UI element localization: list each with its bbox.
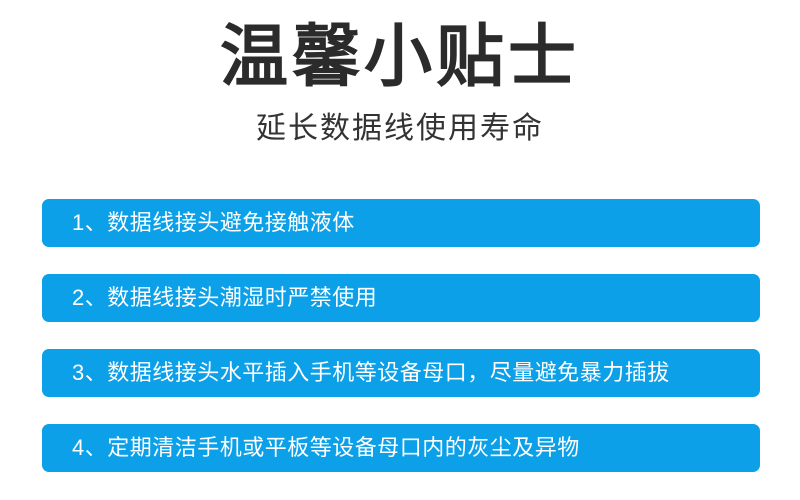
poster-header: 温馨小贴士 延长数据线使用寿命 <box>0 0 800 148</box>
tip-text: 4、定期清洁手机或平板等设备母口内的灰尘及异物 <box>42 436 594 460</box>
list-item: 3、数据线接头水平插入手机等设备母口，尽量避免暴力插拔 <box>42 349 760 397</box>
list-item: 1、数据线接头避免接触液体 <box>42 199 760 247</box>
tip-text: 1、数据线接头避免接触液体 <box>42 211 369 235</box>
list-item: 2、数据线接头潮湿时严禁使用 <box>42 274 760 322</box>
list-item: 4、定期清洁手机或平板等设备母口内的灰尘及异物 <box>42 424 760 472</box>
page-title: 温馨小贴士 <box>0 0 800 98</box>
tips-poster: 温馨小贴士 延长数据线使用寿命 1、数据线接头避免接触液体 2、数据线接头潮湿时… <box>0 0 800 500</box>
tip-text: 2、数据线接头潮湿时严禁使用 <box>42 286 391 310</box>
tips-list: 1、数据线接头避免接触液体 2、数据线接头潮湿时严禁使用 3、数据线接头水平插入… <box>42 199 760 472</box>
tip-text: 3、数据线接头水平插入手机等设备母口，尽量避免暴力插拔 <box>42 361 684 385</box>
page-subtitle: 延长数据线使用寿命 <box>0 98 800 148</box>
